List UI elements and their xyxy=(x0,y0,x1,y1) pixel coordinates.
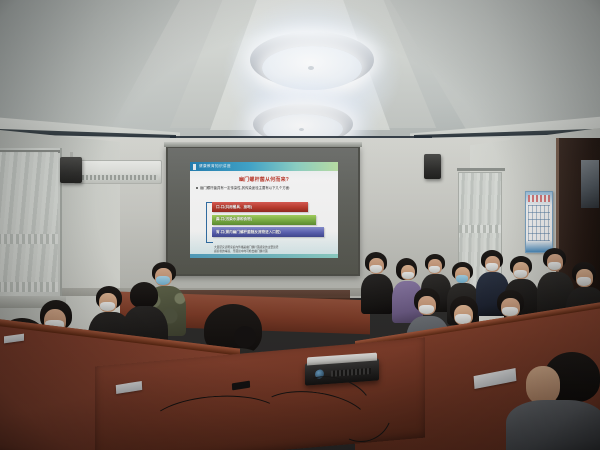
slide-bullet-label: 幽门螺杆菌具有一定传染性,其传染途径主要有以下几个方面: xyxy=(200,186,290,190)
calendar-grid xyxy=(528,205,550,241)
slide-bar-label: 粪-口(污染水源和食物) xyxy=(212,217,252,222)
slide-bar-label: 口-口(共用餐具、接吻) xyxy=(212,205,252,210)
wall-calendar-poster xyxy=(525,191,553,253)
curtain-lace-band xyxy=(0,234,58,244)
left-window-curtain xyxy=(0,148,62,298)
slide-header-banner: 健康教育知识讲座 xyxy=(190,162,338,171)
door-glass-panel xyxy=(581,160,599,208)
ac-vent xyxy=(78,175,158,180)
light-center-dot xyxy=(308,66,314,70)
slide-title: 幽门螺杆菌从何而来? xyxy=(190,176,338,183)
wall-air-conditioner xyxy=(74,160,162,184)
slide-header-text: 健康教育知识讲座 xyxy=(199,163,231,170)
slide-bar-oral-oral: 口-口(共用餐具、接吻) xyxy=(212,202,308,212)
slide-bar-label: 胃-口(胃内幽门螺杆菌随反流物进入口腔) xyxy=(212,230,281,235)
slide-bar-gastro-oral: 胃-口(胃内幽门螺杆菌随反流物进入口腔) xyxy=(212,227,324,237)
presentation-slide: 健康教育知识讲座 幽门螺杆菌从何而来? 幽门螺杆菌具有一定传染性,其传染途径主要… xyxy=(190,162,338,258)
projection-screen: 健康教育知识讲座 幽门螺杆菌从何而来? 幽门螺杆菌具有一定传染性,其传染途径主要… xyxy=(166,146,360,276)
curtain-rod xyxy=(457,168,505,171)
ceiling xyxy=(0,0,600,150)
slide-bar-fecal-oral: 粪-口(污染水源和食物) xyxy=(212,215,316,225)
light-center-dot xyxy=(299,128,304,131)
curtain-lace-band xyxy=(459,225,501,233)
slide-transmission-bars: 口-口(共用餐具、接吻) 粪-口(污染水源和食物) 胃-口(胃内幽门螺杆菌随反流… xyxy=(212,202,324,240)
calendar-header xyxy=(528,195,550,202)
slide-bullet-text: 幽门螺杆菌具有一定传染性,其传染途径主要有以下几个方面: xyxy=(196,186,332,191)
wall-speaker-left xyxy=(60,157,82,183)
bullet-dot xyxy=(196,187,198,189)
meeting-room-photo: 健康教育知识讲座 幽门螺杆菌从何而来? 幽门螺杆菌具有一定传染性,其传染途径主要… xyxy=(0,0,600,450)
curtain-lace-band xyxy=(0,282,58,292)
slide-footnotes: 大量研究表明家庭内传播是幽门螺杆菌感染的主要途径 感染者的唾液、牙菌斑中均可检出… xyxy=(214,246,334,254)
curtain-fabric xyxy=(0,152,58,292)
screen-roller-bar xyxy=(164,142,362,147)
slide-header-marker xyxy=(193,164,196,170)
wall-speaker-right xyxy=(424,154,441,179)
slide-footer-bar xyxy=(190,254,338,258)
